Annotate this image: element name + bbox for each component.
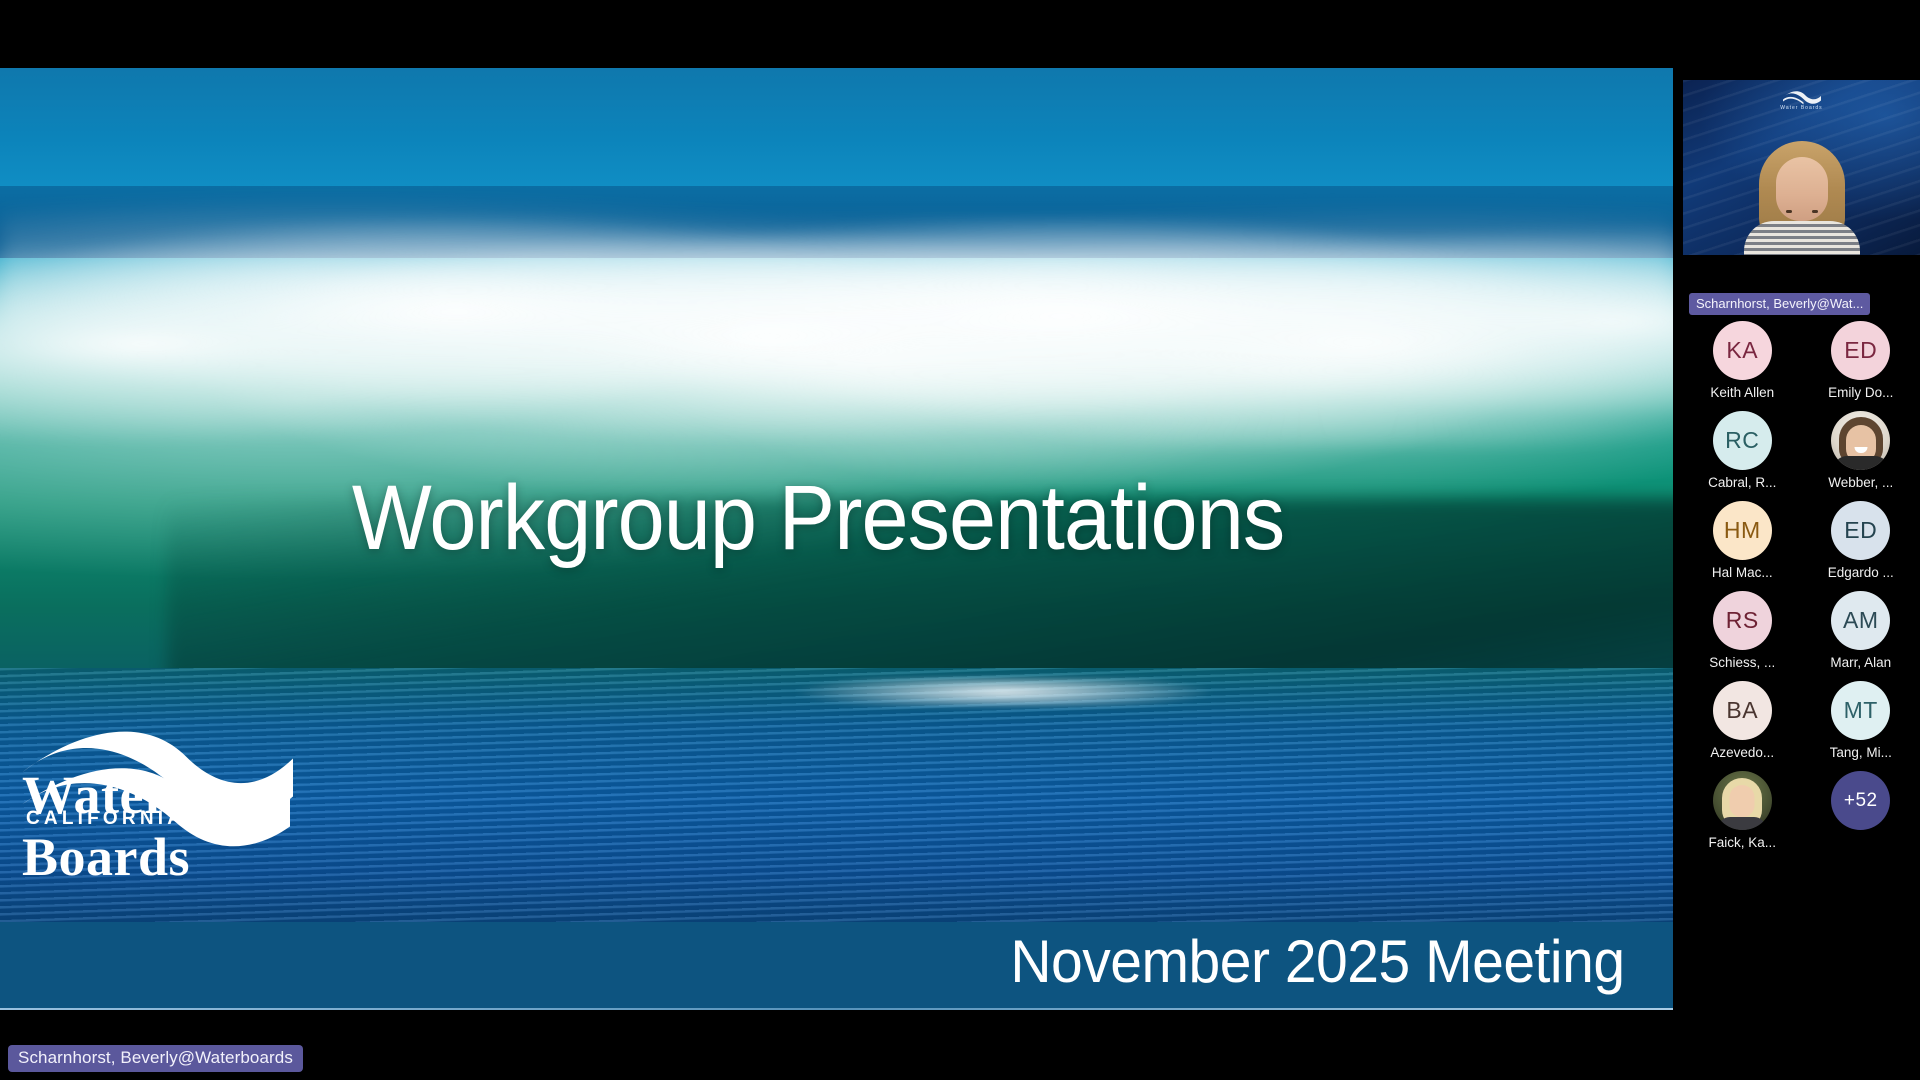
participant-initials-avatar: ED <box>1831 321 1890 380</box>
participant-name-label: Azevedo... <box>1710 745 1774 760</box>
participant-name-label: Hal Mac... <box>1712 565 1773 580</box>
participant-photo-avatar <box>1713 771 1772 830</box>
participant-cell[interactable]: MTTang, Mi... <box>1802 678 1920 768</box>
participant-name-label: Faick, Ka... <box>1708 835 1776 850</box>
participant-name-label: Emily Do... <box>1828 385 1893 400</box>
participant-cell[interactable]: EDEmily Do... <box>1802 318 1920 408</box>
california-water-boards-logo: CALIFORNIA Water Boards <box>18 707 308 882</box>
slide-title: Workgroup Presentations <box>67 466 1606 571</box>
participant-cell[interactable]: Webber, ... <box>1802 408 1920 498</box>
tile-logo-caption: Water Boards <box>1780 105 1822 111</box>
slide-subtitle: November 2025 Meeting <box>1011 927 1625 996</box>
participant-photo-avatar <box>1831 411 1890 470</box>
shared-screen-region[interactable]: Workgroup Presentations November 2025 Me… <box>0 0 1673 1080</box>
active-speaker-name-badge: Scharnhorst, Beverly@Wat... <box>1689 293 1870 315</box>
participant-initials-avatar: ED <box>1831 501 1890 560</box>
participant-cell[interactable]: EDEdgardo ... <box>1802 498 1920 588</box>
participant-name-label: Keith Allen <box>1710 385 1774 400</box>
participant-name-label: Cabral, R... <box>1708 475 1776 490</box>
meeting-screen: Workgroup Presentations November 2025 Me… <box>0 0 1920 1080</box>
slide-sky <box>0 68 1673 198</box>
participant-initials-avatar: RC <box>1713 411 1772 470</box>
participant-initials-avatar: BA <box>1713 681 1772 740</box>
participant-initials-avatar: HM <box>1713 501 1772 560</box>
participant-initials-avatar: MT <box>1831 681 1890 740</box>
participant-roster-panel[interactable]: Water Boards Scharnhorst, Beverly@Wat...… <box>1683 0 1920 1080</box>
participant-cell[interactable]: AMMarr, Alan <box>1802 588 1920 678</box>
speaker-avatar-video <box>1742 133 1862 255</box>
overflow-count-badge: +52 <box>1831 771 1890 830</box>
participant-initials-avatar: RS <box>1713 591 1772 650</box>
slide-band-hairline <box>0 1008 1673 1010</box>
participant-name-label: Tang, Mi... <box>1830 745 1892 760</box>
participant-name-label: Marr, Alan <box>1830 655 1891 670</box>
active-speaker-video-tile[interactable]: Water Boards <box>1683 80 1920 255</box>
participant-cell[interactable]: KAKeith Allen <box>1683 318 1802 408</box>
slide-wave-foam <box>0 218 1673 448</box>
participant-cell[interactable]: RSSchiess, ... <box>1683 588 1802 678</box>
participant-cell[interactable]: RCCabral, R... <box>1683 408 1802 498</box>
participant-overflow-cell[interactable]: +52 <box>1802 768 1920 858</box>
participant-initials-avatar: KA <box>1713 321 1772 380</box>
participant-initials-avatar: AM <box>1831 591 1890 650</box>
presentation-slide: Workgroup Presentations November 2025 Me… <box>0 68 1673 1010</box>
participant-name-label: Webber, ... <box>1828 475 1893 490</box>
presenter-name-badge: Scharnhorst, Beverly@Waterboards <box>8 1045 303 1072</box>
participant-cell[interactable]: Faick, Ka... <box>1683 768 1802 858</box>
participant-name-label: Schiess, ... <box>1709 655 1775 670</box>
participant-name-label: Edgardo ... <box>1828 565 1894 580</box>
participant-grid: KAKeith AllenEDEmily Do...RCCabral, R...… <box>1683 318 1920 858</box>
slide-water-glint <box>753 678 1255 706</box>
logo-water-boards-text: Water Boards <box>22 764 308 888</box>
participant-cell[interactable]: BAAzevedo... <box>1683 678 1802 768</box>
participant-cell[interactable]: HMHal Mac... <box>1683 498 1802 588</box>
